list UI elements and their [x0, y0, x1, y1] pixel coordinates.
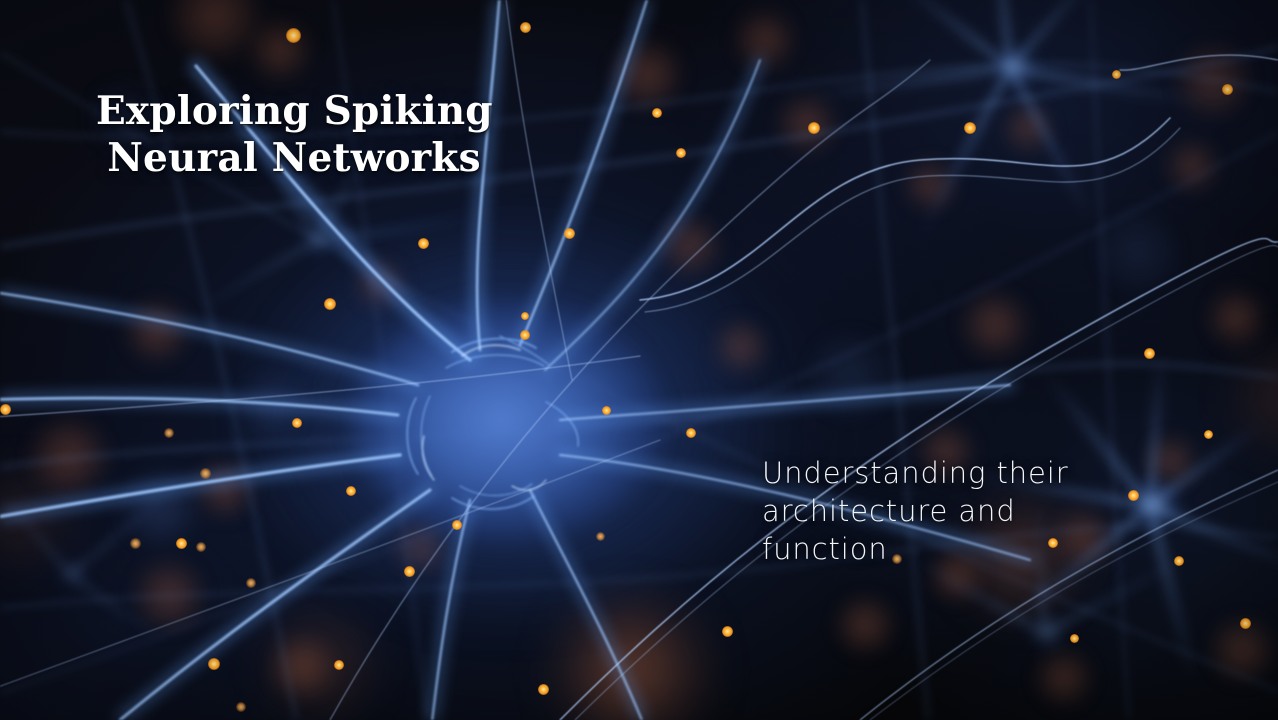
subtitle-line-1: Understanding their	[762, 454, 1092, 492]
slide-subtitle: Understanding their architecture and fun…	[762, 454, 1092, 568]
title-slide: Exploring Spiking Neural Networks Unders…	[0, 0, 1278, 720]
title-line-2: Neural Networks	[96, 135, 492, 182]
title-line-1: Exploring Spiking	[96, 88, 492, 135]
subtitle-line-2: architecture and	[762, 492, 1092, 530]
slide-title: Exploring Spiking Neural Networks	[96, 88, 492, 182]
subtitle-line-3: function	[762, 530, 1092, 568]
